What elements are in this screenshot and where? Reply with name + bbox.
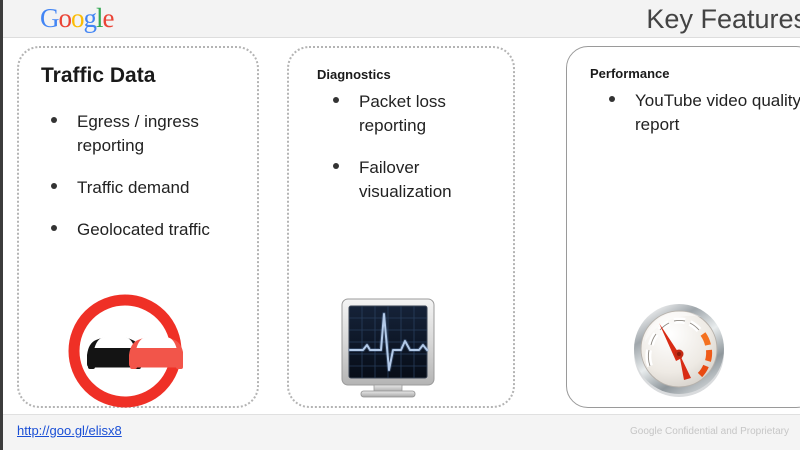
bullet-text: Traffic demand	[77, 178, 189, 197]
bullet-dot-icon	[51, 225, 57, 231]
logo-letter-G: G	[40, 3, 59, 33]
activity-monitor-icon	[341, 298, 435, 398]
panel-heading-performance: Performance	[590, 66, 669, 81]
google-logo: Google	[40, 4, 114, 33]
logo-letter-g: g	[84, 3, 97, 33]
bullet-text: Geolocated traffic	[77, 220, 210, 239]
logo-letter-o2: o	[71, 3, 84, 33]
list-item: Egress / ingress reporting	[37, 110, 247, 158]
presentation-slide: Google Key Features Traffic Data Egress …	[0, 0, 800, 450]
no-overtaking-traffic-sign-icon	[67, 293, 183, 409]
bullet-dot-icon	[333, 97, 339, 103]
speedometer-gauge-icon	[629, 298, 729, 402]
bullet-dot-icon	[333, 163, 339, 169]
slide-title: Key Features	[646, 2, 800, 36]
slide-header: Google Key Features	[3, 0, 800, 38]
panel-heading-diagnostics: Diagnostics	[317, 67, 391, 82]
bullet-text: YouTube video quality report	[635, 91, 800, 134]
bullet-text: Failover visualization	[359, 158, 452, 201]
footer-link[interactable]: http://goo.gl/elisx8	[17, 423, 122, 438]
list-item: Failover visualization	[319, 156, 509, 204]
bullet-list-performance: YouTube video quality report	[595, 89, 800, 155]
list-item: YouTube video quality report	[595, 89, 800, 137]
list-item: Geolocated traffic	[37, 218, 247, 242]
bullet-dot-icon	[51, 117, 57, 123]
footer-confidential-notice: Google Confidential and Proprietary	[630, 426, 789, 437]
bullet-text: Egress / ingress reporting	[77, 112, 199, 155]
bullet-list-traffic-data: Egress / ingress reporting Traffic deman…	[37, 110, 247, 260]
logo-letter-o1: o	[59, 3, 72, 33]
panel-heading-traffic-data: Traffic Data	[41, 64, 155, 88]
bullet-dot-icon	[51, 183, 57, 189]
logo-letter-e: e	[103, 3, 114, 33]
bullet-text: Packet loss reporting	[359, 92, 446, 135]
list-item: Packet loss reporting	[319, 90, 509, 138]
bullet-list-diagnostics: Packet loss reporting Failover visualiza…	[319, 90, 509, 222]
slide-footer: http://goo.gl/elisx8 Google Confidential…	[3, 414, 800, 450]
bullet-dot-icon	[609, 96, 615, 102]
list-item: Traffic demand	[37, 176, 247, 200]
